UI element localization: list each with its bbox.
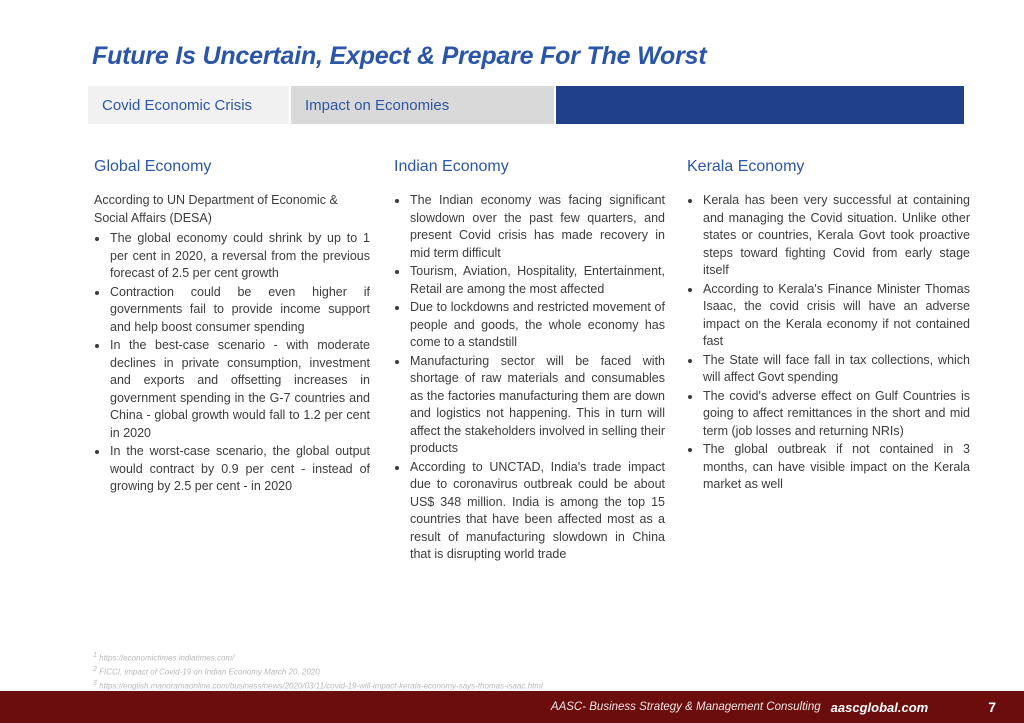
bullet-text: According to Kerala's Finance Minister T… bbox=[703, 282, 970, 349]
page-number: 7 bbox=[988, 699, 996, 715]
bullet-text: The covid's adverse effect on Gulf Count… bbox=[703, 389, 970, 438]
bullet-text: In the worst-case scenario, the global o… bbox=[110, 444, 370, 493]
footnote-text: FICCI, impact of Covid-19 on Indian Econ… bbox=[99, 668, 320, 677]
column-heading-kerala: Kerala Economy bbox=[687, 158, 970, 176]
bullet-text: The Indian economy was facing significan… bbox=[410, 193, 665, 260]
list-item: The global economy could shrink by up to… bbox=[88, 230, 370, 283]
bullet-list-indian: The Indian economy was facing significan… bbox=[388, 192, 665, 564]
list-item: Due to lockdowns and restricted movement… bbox=[388, 299, 665, 352]
bullet-text: The State will face fall in tax collecti… bbox=[703, 353, 970, 385]
tab-impact-on-economies[interactable]: Impact on Economies bbox=[291, 86, 556, 124]
tab-label: Impact on Economies bbox=[305, 97, 449, 114]
footnote-text: https://english.manoramaonline.com/busin… bbox=[99, 682, 543, 691]
bullet-text: The global outbreak if not contained in … bbox=[703, 442, 970, 491]
column-kerala-economy: Kerala Economy Kerala has been very succ… bbox=[681, 158, 978, 565]
bullet-text: Kerala has been very successful at conta… bbox=[703, 193, 970, 277]
list-item: The covid's adverse effect on Gulf Count… bbox=[681, 388, 970, 441]
tab-label: Covid Economic Crisis bbox=[102, 97, 252, 114]
column-heading-global: Global Economy bbox=[94, 158, 370, 176]
content-columns: Global Economy According to UN Departmen… bbox=[88, 158, 978, 565]
page-title: Future Is Uncertain, Expect & Prepare Fo… bbox=[92, 42, 706, 71]
list-item: Contraction could be even higher if gove… bbox=[88, 284, 370, 337]
bullet-list-global: The global economy could shrink by up to… bbox=[88, 230, 370, 496]
bullet-text: Contraction could be even higher if gove… bbox=[110, 285, 370, 334]
list-item: In the best-case scenario - with moderat… bbox=[88, 337, 370, 442]
list-item: Tourism, Aviation, Hospitality, Entertai… bbox=[388, 263, 665, 298]
list-item: In the worst-case scenario, the global o… bbox=[88, 443, 370, 496]
bullet-text: In the best-case scenario - with moderat… bbox=[110, 338, 370, 440]
footnote-1: 1 https://economictimes.indiatimes.com/ bbox=[93, 650, 543, 664]
tab-accent-block bbox=[556, 86, 964, 124]
tab-strip: Covid Economic Crisis Impact on Economie… bbox=[88, 86, 964, 124]
column-intro-global: According to UN Department of Economic &… bbox=[94, 192, 370, 227]
footer-brand: aascglobal.com bbox=[831, 700, 929, 715]
footnote-marker: 3 bbox=[93, 680, 97, 687]
list-item: Kerala has been very successful at conta… bbox=[681, 192, 970, 280]
tab-covid-economic-crisis[interactable]: Covid Economic Crisis bbox=[88, 86, 291, 124]
column-indian-economy: Indian Economy The Indian economy was fa… bbox=[388, 158, 681, 565]
bullet-text: According to UNCTAD, India's trade impac… bbox=[410, 460, 665, 562]
bullet-text: Manufacturing sector will be faced with … bbox=[410, 354, 665, 456]
list-item: The State will face fall in tax collecti… bbox=[681, 352, 970, 387]
footnote-marker: 2 bbox=[93, 666, 97, 673]
column-heading-indian: Indian Economy bbox=[394, 158, 665, 176]
footnote-2: 2 FICCI, impact of Covid-19 on Indian Ec… bbox=[93, 664, 543, 678]
bullet-text: The global economy could shrink by up to… bbox=[110, 231, 370, 280]
column-global-economy: Global Economy According to UN Departmen… bbox=[88, 158, 388, 565]
footer-tagline: AASC- Business Strategy & Management Con… bbox=[551, 701, 821, 713]
slide: Future Is Uncertain, Expect & Prepare Fo… bbox=[0, 0, 1024, 723]
bullet-list-kerala: Kerala has been very successful at conta… bbox=[681, 192, 970, 494]
list-item: According to UNCTAD, India's trade impac… bbox=[388, 459, 665, 564]
footnote-text: https://economictimes.indiatimes.com/ bbox=[99, 654, 234, 663]
footnote-marker: 1 bbox=[93, 652, 97, 659]
list-item: According to Kerala's Finance Minister T… bbox=[681, 281, 970, 351]
list-item: Manufacturing sector will be faced with … bbox=[388, 353, 665, 458]
bullet-text: Due to lockdowns and restricted movement… bbox=[410, 300, 665, 349]
footer-bar: AASC- Business Strategy & Management Con… bbox=[0, 691, 1024, 723]
bullet-text: Tourism, Aviation, Hospitality, Entertai… bbox=[410, 264, 665, 296]
footnotes: 1 https://economictimes.indiatimes.com/ … bbox=[93, 650, 543, 692]
list-item: The global outbreak if not contained in … bbox=[681, 441, 970, 494]
list-item: The Indian economy was facing significan… bbox=[388, 192, 665, 262]
